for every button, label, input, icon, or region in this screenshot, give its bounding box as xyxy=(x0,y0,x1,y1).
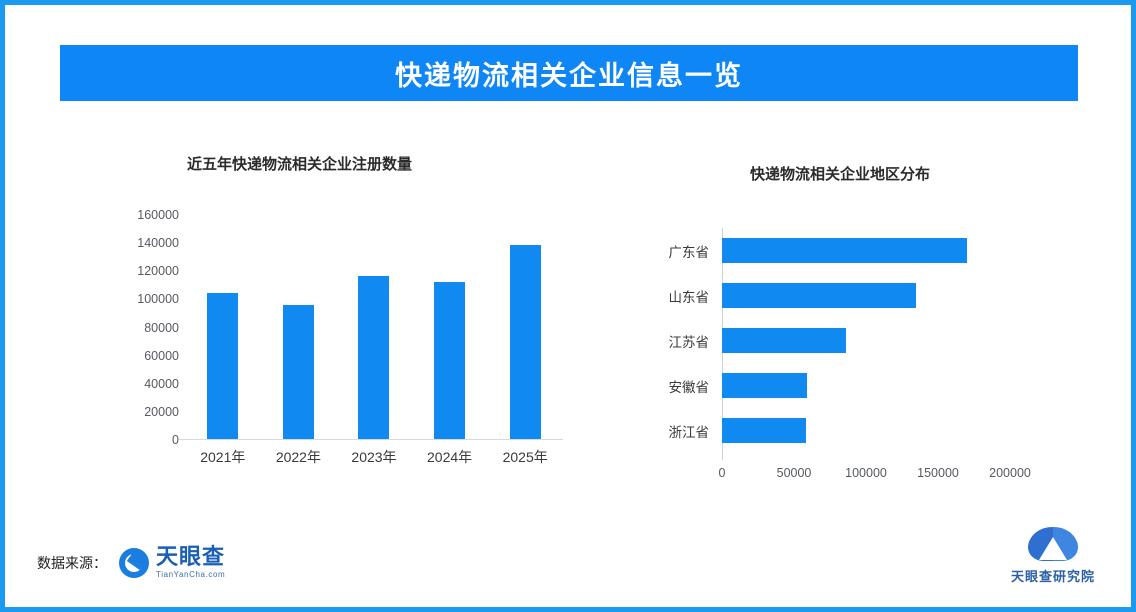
vertical-plot-area xyxy=(185,215,563,440)
h-category-label: 山东省 xyxy=(645,286,722,306)
h-category-label: 安徽省 xyxy=(645,376,722,396)
x-axis-line xyxy=(179,439,563,440)
horizontal-bar[interactable] xyxy=(722,418,806,443)
vertical-bar-cell[interactable] xyxy=(412,215,488,439)
h-x-tick-label: 0 xyxy=(719,466,726,480)
vertical-bar-cell[interactable] xyxy=(487,215,563,439)
source-label: 数据来源： xyxy=(37,553,107,573)
horizontal-bar[interactable] xyxy=(722,238,967,263)
horizontal-bar-series: 广东省山东省江苏省安徽省浙江省 xyxy=(645,228,1010,453)
vertical-bar[interactable] xyxy=(510,245,541,439)
horizontal-bar-row[interactable]: 浙江省 xyxy=(645,408,1010,453)
horizontal-bar-row[interactable]: 江苏省 xyxy=(645,318,1010,363)
vertical-bar[interactable] xyxy=(283,305,314,439)
vertical-bar[interactable] xyxy=(358,276,389,439)
x-category-label: 2023年 xyxy=(336,447,412,467)
y-tick-label: 40000 xyxy=(144,377,179,391)
x-category-label: 2021年 xyxy=(185,447,261,467)
horizontal-bar-row[interactable]: 安徽省 xyxy=(645,363,1010,408)
data-source-footer: 数据来源： 天眼查 TianYanCha.com xyxy=(37,546,225,579)
right-chart-title: 快递物流相关企业地区分布 xyxy=(750,163,930,184)
horizontal-bar-track xyxy=(722,228,1010,273)
horizontal-bar-track xyxy=(722,273,1010,318)
registrations-chart-panel: 近五年快递物流相关企业注册数量 160000140000120000100000… xyxy=(115,153,585,503)
y-tick-label: 0 xyxy=(172,433,179,447)
y-tick-label: 120000 xyxy=(137,264,179,278)
h-x-tick-label: 50000 xyxy=(777,466,812,480)
h-category-label: 浙江省 xyxy=(645,421,722,441)
left-chart-title: 近五年快递物流相关企业注册数量 xyxy=(187,153,412,174)
vertical-bar-cell[interactable] xyxy=(261,215,337,439)
infographic-page: 快递物流相关企业信息一览 近五年快递物流相关企业注册数量 16000014000… xyxy=(0,0,1136,612)
tianyancha-wordmark: 天眼查 TianYanCha.com xyxy=(156,546,225,579)
brand-name-en: TianYanCha.com xyxy=(156,571,225,579)
horizontal-bar-row[interactable]: 广东省 xyxy=(645,228,1010,273)
institute-footer: 天眼查研究院 xyxy=(1011,525,1095,585)
y-axis-tick-labels: 1600001400001200001000008000060000400002… xyxy=(115,215,179,440)
horizontal-bar-row[interactable]: 山东省 xyxy=(645,273,1010,318)
horizontal-bar[interactable] xyxy=(722,328,846,353)
x-category-label: 2024年 xyxy=(412,447,488,467)
horizontal-bar-track xyxy=(722,408,1010,453)
page-title: 快递物流相关企业信息一览 xyxy=(395,54,743,93)
y-tick-label: 60000 xyxy=(144,349,179,363)
brand-name-cn: 天眼查 xyxy=(156,546,225,568)
title-banner: 快递物流相关企业信息一览 xyxy=(60,45,1078,101)
horizontal-bar-track xyxy=(722,363,1010,408)
y-tick-label: 80000 xyxy=(144,321,179,335)
x-category-label: 2025年 xyxy=(487,447,563,467)
y-tick-label: 160000 xyxy=(137,208,179,222)
x-axis-category-labels: 2021年2022年2023年2024年2025年 xyxy=(185,447,563,467)
y-tick-label: 20000 xyxy=(144,405,179,419)
h-x-tick-label: 100000 xyxy=(845,466,887,480)
institute-arc-icon xyxy=(1026,525,1080,563)
horizontal-bar[interactable] xyxy=(722,373,807,398)
region-distribution-panel: 快递物流相关企业地区分布 广东省山东省江苏省安徽省浙江省 05000010000… xyxy=(645,153,1065,513)
x-category-label: 2022年 xyxy=(261,447,337,467)
y-tick-label: 100000 xyxy=(137,292,179,306)
tianyancha-logo: 天眼查 TianYanCha.com xyxy=(119,546,225,579)
vertical-bar[interactable] xyxy=(434,282,465,440)
horizontal-bar[interactable] xyxy=(722,283,916,308)
vertical-bar-series xyxy=(185,215,563,439)
vertical-bar[interactable] xyxy=(207,293,238,439)
horizontal-bar-track xyxy=(722,318,1010,363)
h-x-tick-label: 150000 xyxy=(917,466,959,480)
horizontal-bar-chart: 广东省山东省江苏省安徽省浙江省 050000100000150000200000 xyxy=(645,228,1045,488)
h-category-label: 广东省 xyxy=(645,241,722,261)
h-x-axis-tick-labels: 050000100000150000200000 xyxy=(722,466,1010,484)
vertical-bar-cell[interactable] xyxy=(185,215,261,439)
vertical-bar-chart: 1600001400001200001000008000060000400002… xyxy=(115,215,565,458)
h-x-tick-label: 200000 xyxy=(989,466,1031,480)
y-tick-label: 140000 xyxy=(137,236,179,250)
institute-name: 天眼查研究院 xyxy=(1011,566,1095,585)
vertical-bar-cell[interactable] xyxy=(336,215,412,439)
tianyancha-eye-icon xyxy=(119,548,149,578)
h-category-label: 江苏省 xyxy=(645,331,722,351)
